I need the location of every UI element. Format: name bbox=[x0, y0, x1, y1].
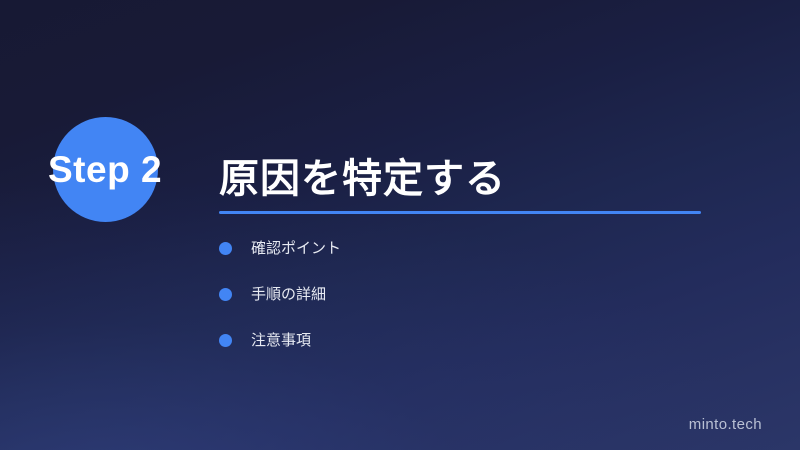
bullet-dot-icon bbox=[219, 334, 232, 347]
bullet-label: 手順の詳細 bbox=[251, 287, 326, 302]
presentation-slide: Step 2 原因を特定する 確認ポイント 手順の詳細 注意事項 minto.t… bbox=[0, 0, 800, 450]
list-item: 注意事項 bbox=[219, 330, 341, 351]
bullet-dot-icon bbox=[219, 242, 232, 255]
footer-brand: minto.tech bbox=[689, 416, 762, 433]
slide-title: 原因を特定する bbox=[219, 146, 506, 204]
bullet-label: 確認ポイント bbox=[251, 241, 341, 256]
title-divider bbox=[219, 211, 701, 214]
list-item: 手順の詳細 bbox=[219, 284, 341, 305]
slide-content: Step 2 原因を特定する 確認ポイント 手順の詳細 注意事項 minto.t… bbox=[0, 0, 800, 450]
bullet-dot-icon bbox=[219, 288, 232, 301]
step-badge: Step 2 bbox=[48, 117, 208, 223]
list-item: 確認ポイント bbox=[219, 238, 341, 259]
bullet-list: 確認ポイント 手順の詳細 注意事項 bbox=[219, 238, 341, 351]
bullet-label: 注意事項 bbox=[251, 333, 311, 348]
step-label: Step 2 bbox=[48, 117, 162, 222]
